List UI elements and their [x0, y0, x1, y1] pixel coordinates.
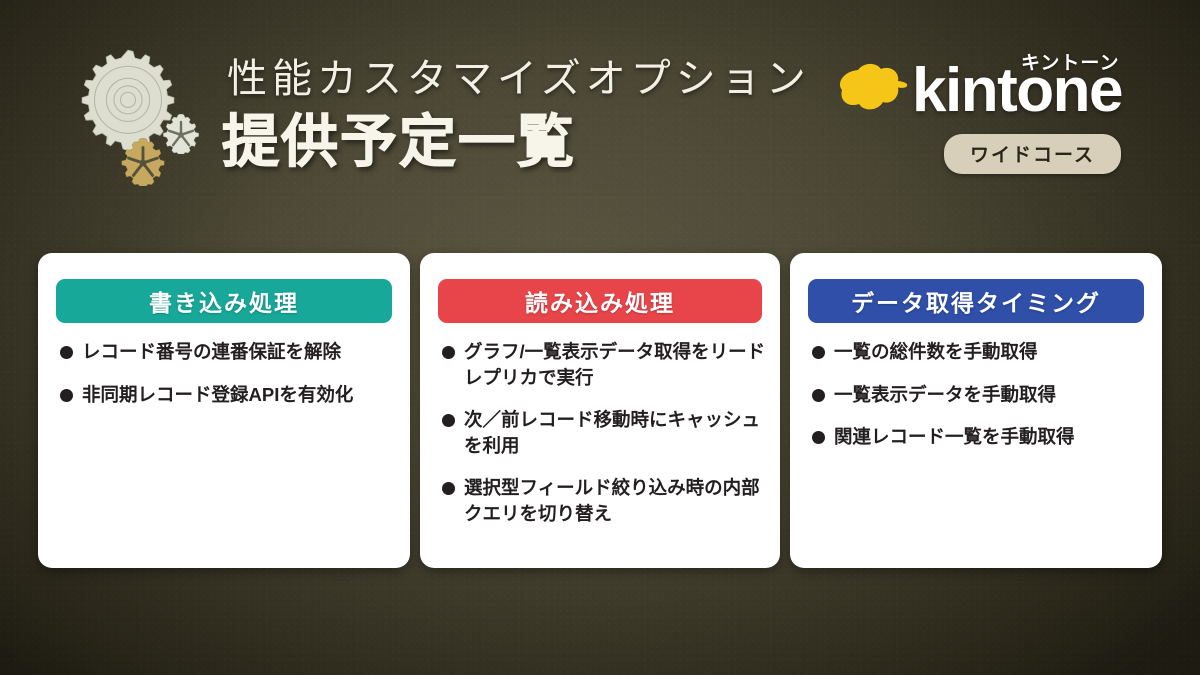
- course-badge: ワイドコース: [944, 134, 1121, 174]
- gear-small-gold-icon: [119, 138, 167, 186]
- bullet-text: グラフ/一覧表示データ取得をリードレプリカで実行: [464, 339, 766, 390]
- cloud-icon: [838, 62, 910, 118]
- kintone-ruby-text: キントーン: [1021, 48, 1119, 75]
- list-item: 一覧表示データを手動取得: [812, 382, 1148, 408]
- list-item: 次／前レコード移動時にキャッシュを利用: [442, 407, 766, 458]
- bullet-text: 関連レコード一覧を手動取得: [834, 424, 1075, 450]
- card-header-read: 読み込み処理: [438, 279, 762, 323]
- card-read-processing[interactable]: 読み込み処理 グラフ/一覧表示データ取得をリードレプリカで実行 次／前レコード移…: [420, 253, 780, 568]
- bullet-dot-icon: [812, 346, 825, 359]
- list-item: グラフ/一覧表示データ取得をリードレプリカで実行: [442, 339, 766, 390]
- bullet-list-timing: 一覧の総件数を手動取得 一覧表示データを手動取得 関連レコード一覧を手動取得: [812, 339, 1148, 467]
- bullet-text: レコード番号の連番保証を解除: [82, 339, 341, 365]
- bullet-text: 選択型フィールド絞り込み時の内部クエリを切り替え: [464, 475, 766, 526]
- bullet-text: 一覧表示データを手動取得: [834, 382, 1056, 408]
- bullet-text: 次／前レコード移動時にキャッシュを利用: [464, 407, 766, 458]
- list-item: 一覧の総件数を手動取得: [812, 339, 1148, 365]
- list-item: 非同期レコード登録APIを有効化: [60, 382, 396, 408]
- slide-root: 性能カスタマイズオプション 提供予定一覧 kintone キントーン ワイドコー…: [0, 0, 1200, 675]
- gear-decoration-group: [74, 48, 226, 190]
- bullet-list-write: レコード番号の連番保証を解除 非同期レコード登録APIを有効化: [60, 339, 396, 424]
- bullet-dot-icon: [60, 389, 73, 402]
- bullet-dot-icon: [442, 482, 455, 495]
- card-data-fetch-timing[interactable]: データ取得タイミング 一覧の総件数を手動取得 一覧表示データを手動取得 関連レコ…: [790, 253, 1162, 568]
- bullet-dot-icon: [812, 431, 825, 444]
- bullet-dot-icon: [442, 414, 455, 427]
- kintone-logo: kintone キントーン ワイドコース: [838, 50, 1138, 175]
- bullet-dot-icon: [442, 346, 455, 359]
- bullet-list-read: グラフ/一覧表示データ取得をリードレプリカで実行 次／前レコード移動時にキャッシ…: [442, 339, 766, 543]
- list-item: レコード番号の連番保証を解除: [60, 339, 396, 365]
- card-header-timing: データ取得タイミング: [808, 279, 1144, 323]
- gear-small-white-icon: [161, 114, 201, 154]
- bullet-dot-icon: [812, 389, 825, 402]
- bullet-text: 非同期レコード登録APIを有効化: [82, 382, 353, 408]
- card-write-processing[interactable]: 書き込み処理 レコード番号の連番保証を解除 非同期レコード登録APIを有効化: [38, 253, 410, 568]
- slide-subtitle: 性能カスタマイズオプション: [227, 59, 811, 99]
- slide-title: 提供予定一覧: [222, 112, 576, 174]
- bullet-text: 一覧の総件数を手動取得: [834, 339, 1038, 365]
- list-item: 関連レコード一覧を手動取得: [812, 424, 1148, 450]
- card-header-write: 書き込み処理: [56, 279, 392, 323]
- bullet-dot-icon: [60, 346, 73, 359]
- list-item: 選択型フィールド絞り込み時の内部クエリを切り替え: [442, 475, 766, 526]
